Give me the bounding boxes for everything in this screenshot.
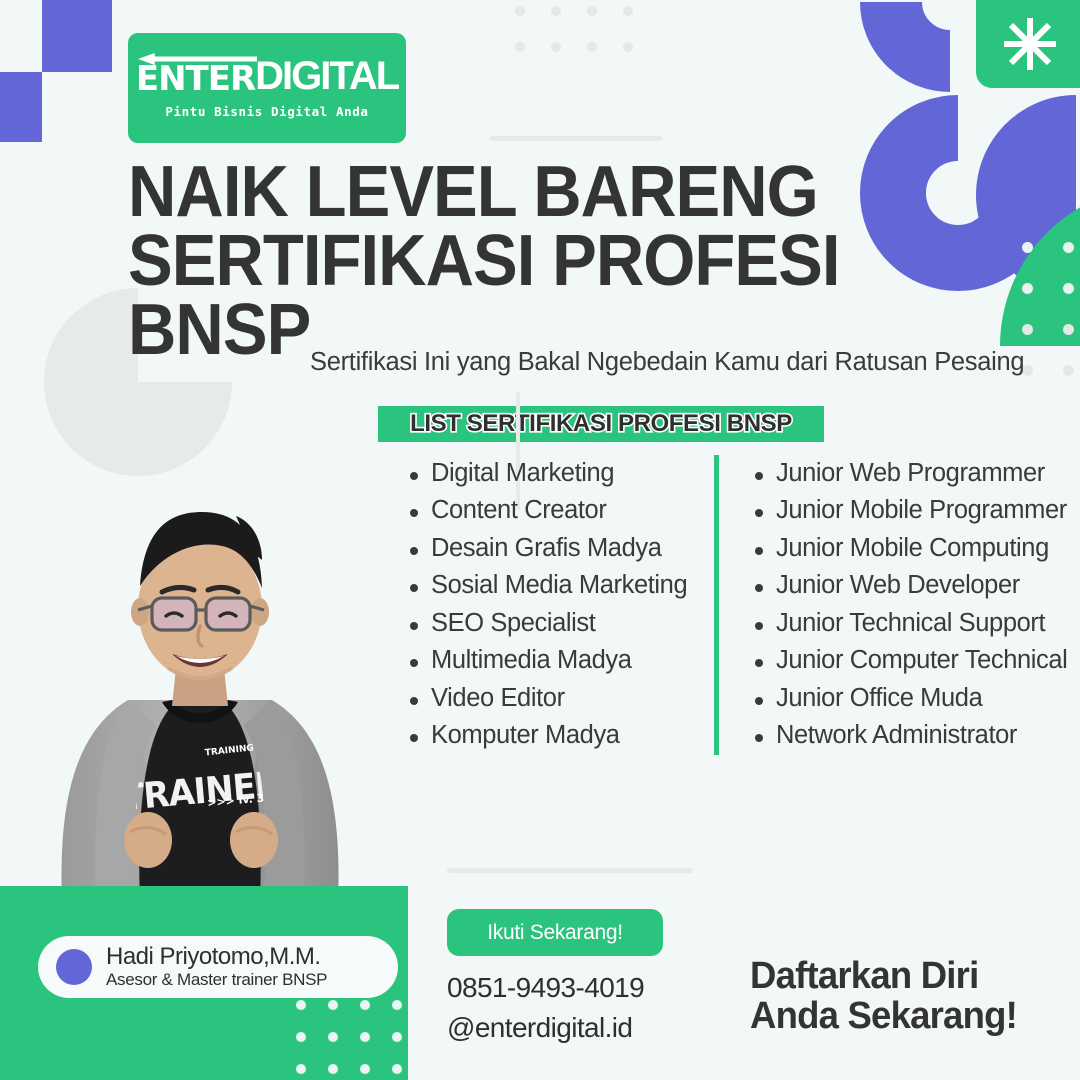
dot-grid-icon-top <box>515 6 633 52</box>
follow-now-button[interactable]: Ikuti Sekarang! <box>447 909 663 956</box>
poster-canvas: ENTER DIGITAL Pintu Bisnis Digital Anda … <box>0 0 1080 1080</box>
registration-callout-line-2: Anda Sekarang! <box>750 996 1017 1036</box>
list-item: Junior Mobile Computing <box>749 530 1067 567</box>
presenter-info: Hadi Priyotomo,M.M. Asesor & Master trai… <box>106 944 327 990</box>
list-item: Video Editor <box>404 680 714 717</box>
list-banner: LIST SERTIFIKASI PROFESI BNSP <box>378 406 824 442</box>
list-item: Content Creator <box>404 492 714 529</box>
list-item: Junior Web Developer <box>749 567 1067 604</box>
decor-square-purple-top <box>42 0 112 72</box>
page-title: NAIK LEVEL BARENG SERTIFIKASI PROFESI BN… <box>128 158 872 365</box>
brand-tagline: Pintu Bisnis Digital Anda <box>165 104 368 119</box>
list-banner-label: LIST SERTIFIKASI PROFESI BNSP <box>410 410 792 438</box>
brand-logo-enter-text: ENTER <box>136 59 255 99</box>
headline-line-2: SERTIFIKASI PROFESI <box>128 227 872 296</box>
list-item: Junior Mobile Programmer <box>749 492 1067 529</box>
presenter-name: Hadi Priyotomo,M.M. <box>106 944 327 969</box>
dot-grid-icon-footer <box>296 1000 402 1074</box>
brand-logo-wordmark: ENTER DIGITAL <box>136 57 398 95</box>
list-item: Komputer Madya <box>404 717 714 754</box>
list-item: Multimedia Madya <box>404 642 714 679</box>
list-item: Desain Grafis Madya <box>404 530 714 567</box>
brand-logo-enter-wrap: ENTER <box>136 62 255 96</box>
brand-logo-digital-text: DIGITAL <box>255 57 398 95</box>
decor-square-purple-left <box>0 72 42 142</box>
certification-column-left: Digital Marketing Content Creator Desain… <box>404 455 714 755</box>
list-item: SEO Specialist <box>404 605 714 642</box>
registration-callout: Daftarkan Diri Anda Sekarang! <box>750 956 1017 1037</box>
asterisk-icon <box>1000 14 1060 74</box>
certification-list-left: Digital Marketing Content Creator Desain… <box>404 455 714 755</box>
contact-phone[interactable]: 0851-9493-4019 <box>447 972 644 1004</box>
list-item: Junior Technical Support <box>749 605 1067 642</box>
list-item: Junior Web Programmer <box>749 455 1067 492</box>
follow-now-button-label: Ikuti Sekarang! <box>487 921 623 945</box>
enter-arrow-icon <box>138 53 257 65</box>
divider-top <box>490 136 662 141</box>
contact-instagram[interactable]: @enterdigital.id <box>447 1012 632 1044</box>
trainer-photo: TRAINING OF TRAINER >>> lv. 3 <box>0 400 400 900</box>
list-item: Digital Marketing <box>404 455 714 492</box>
headline-line-1: NAIK LEVEL BARENG <box>128 158 872 227</box>
certification-lists: Digital Marketing Content Creator Desain… <box>404 455 1067 755</box>
certification-column-right: Junior Web Programmer Junior Mobile Prog… <box>714 455 1067 755</box>
certification-list-right: Junior Web Programmer Junior Mobile Prog… <box>749 455 1067 755</box>
presenter-role: Asesor & Master trainer BNSP <box>106 969 327 990</box>
avatar <box>56 949 92 985</box>
divider-middle <box>447 868 693 873</box>
brand-logo[interactable]: ENTER DIGITAL Pintu Bisnis Digital Anda <box>128 33 406 143</box>
list-item: Junior Office Muda <box>749 680 1067 717</box>
page-subtitle: Sertifikasi Ini yang Bakal Ngebedain Kam… <box>310 348 1070 377</box>
presenter-card: Hadi Priyotomo,M.M. Asesor & Master trai… <box>38 936 398 998</box>
list-item: Network Administrator <box>749 717 1067 754</box>
list-item: Sosial Media Marketing <box>404 567 714 604</box>
list-item: Junior Computer Technical <box>749 642 1067 679</box>
registration-callout-line-1: Daftarkan Diri <box>750 956 1017 996</box>
